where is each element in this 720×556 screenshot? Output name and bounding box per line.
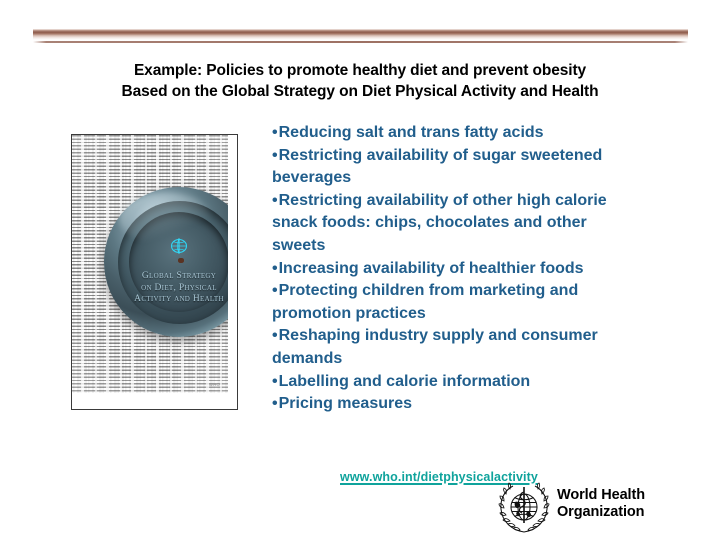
cover-title-line-3: Activity and Health xyxy=(115,294,229,306)
list-item: Restricting availability of other high c… xyxy=(272,190,642,258)
cover-who-emblem-icon xyxy=(168,237,190,255)
who-logo: World Health Organization xyxy=(497,482,677,534)
page-title-line-2: Based on the Global Strategy on Diet Phy… xyxy=(40,81,680,102)
cover-title: Global Strategy on Diet, Physical Activi… xyxy=(115,271,229,306)
list-item: Increasing availability of healthier foo… xyxy=(272,258,642,281)
bowl-speck xyxy=(178,258,184,263)
list-item: Reshaping industry supply and consumer d… xyxy=(272,325,642,370)
who-wordmark: World Health Organization xyxy=(557,487,645,520)
page-title-line-1: Example: Policies to promote healthy die… xyxy=(40,60,680,81)
policy-bullet-list: Reducing salt and trans fatty acids Rest… xyxy=(272,122,642,416)
publication-cover-figure: Global Strategy on Diet, Physical Activi… xyxy=(71,134,238,410)
list-item: Reducing salt and trans fatty acids xyxy=(272,122,642,145)
cover-title-line-1: Global Strategy xyxy=(115,271,229,283)
who-wordmark-line-2: Organization xyxy=(557,504,645,521)
cover-title-line-2: on Diet, Physical xyxy=(115,283,229,295)
list-item: Pricing measures xyxy=(272,393,642,416)
page-title: Example: Policies to promote healthy die… xyxy=(40,60,680,102)
decorative-top-bar xyxy=(33,29,688,41)
slide-canvas: Example: Policies to promote healthy die… xyxy=(0,0,720,556)
list-item: Protecting children from marketing and p… xyxy=(272,280,642,325)
who-emblem-icon xyxy=(497,482,551,534)
cover-corner-mark: WHO xyxy=(209,382,220,387)
publication-cover-art: Global Strategy on Diet, Physical Activi… xyxy=(72,135,228,393)
list-item: Labelling and calorie information xyxy=(272,371,642,394)
bowl-highlight xyxy=(119,193,212,244)
list-item: Restricting availability of sugar sweete… xyxy=(272,145,642,190)
who-wordmark-line-1: World Health xyxy=(557,487,645,504)
